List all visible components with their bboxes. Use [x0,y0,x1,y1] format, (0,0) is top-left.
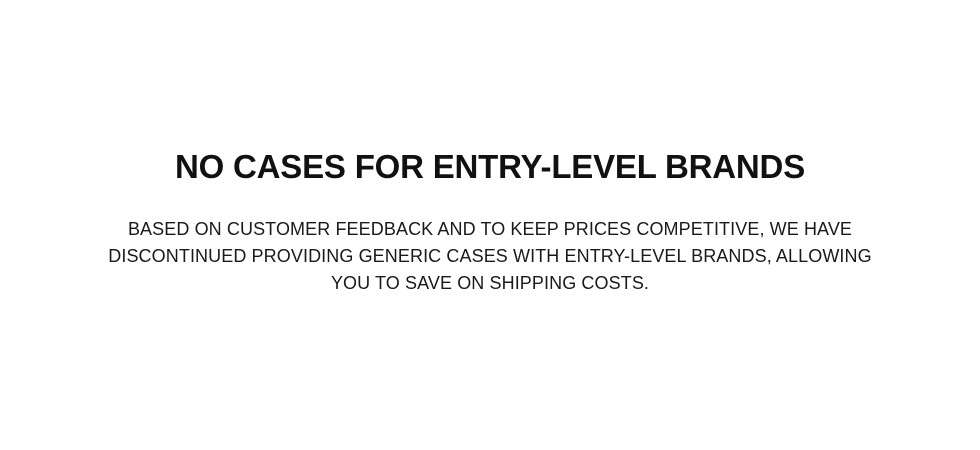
banner-description: BASED ON CUSTOMER FEEDBACK AND TO KEEP P… [95,216,885,297]
page-title: NO CASES FOR ENTRY-LEVEL BRANDS [175,150,805,184]
promo-banner: NO CASES FOR ENTRY-LEVEL BRANDS BASED ON… [0,0,980,450]
